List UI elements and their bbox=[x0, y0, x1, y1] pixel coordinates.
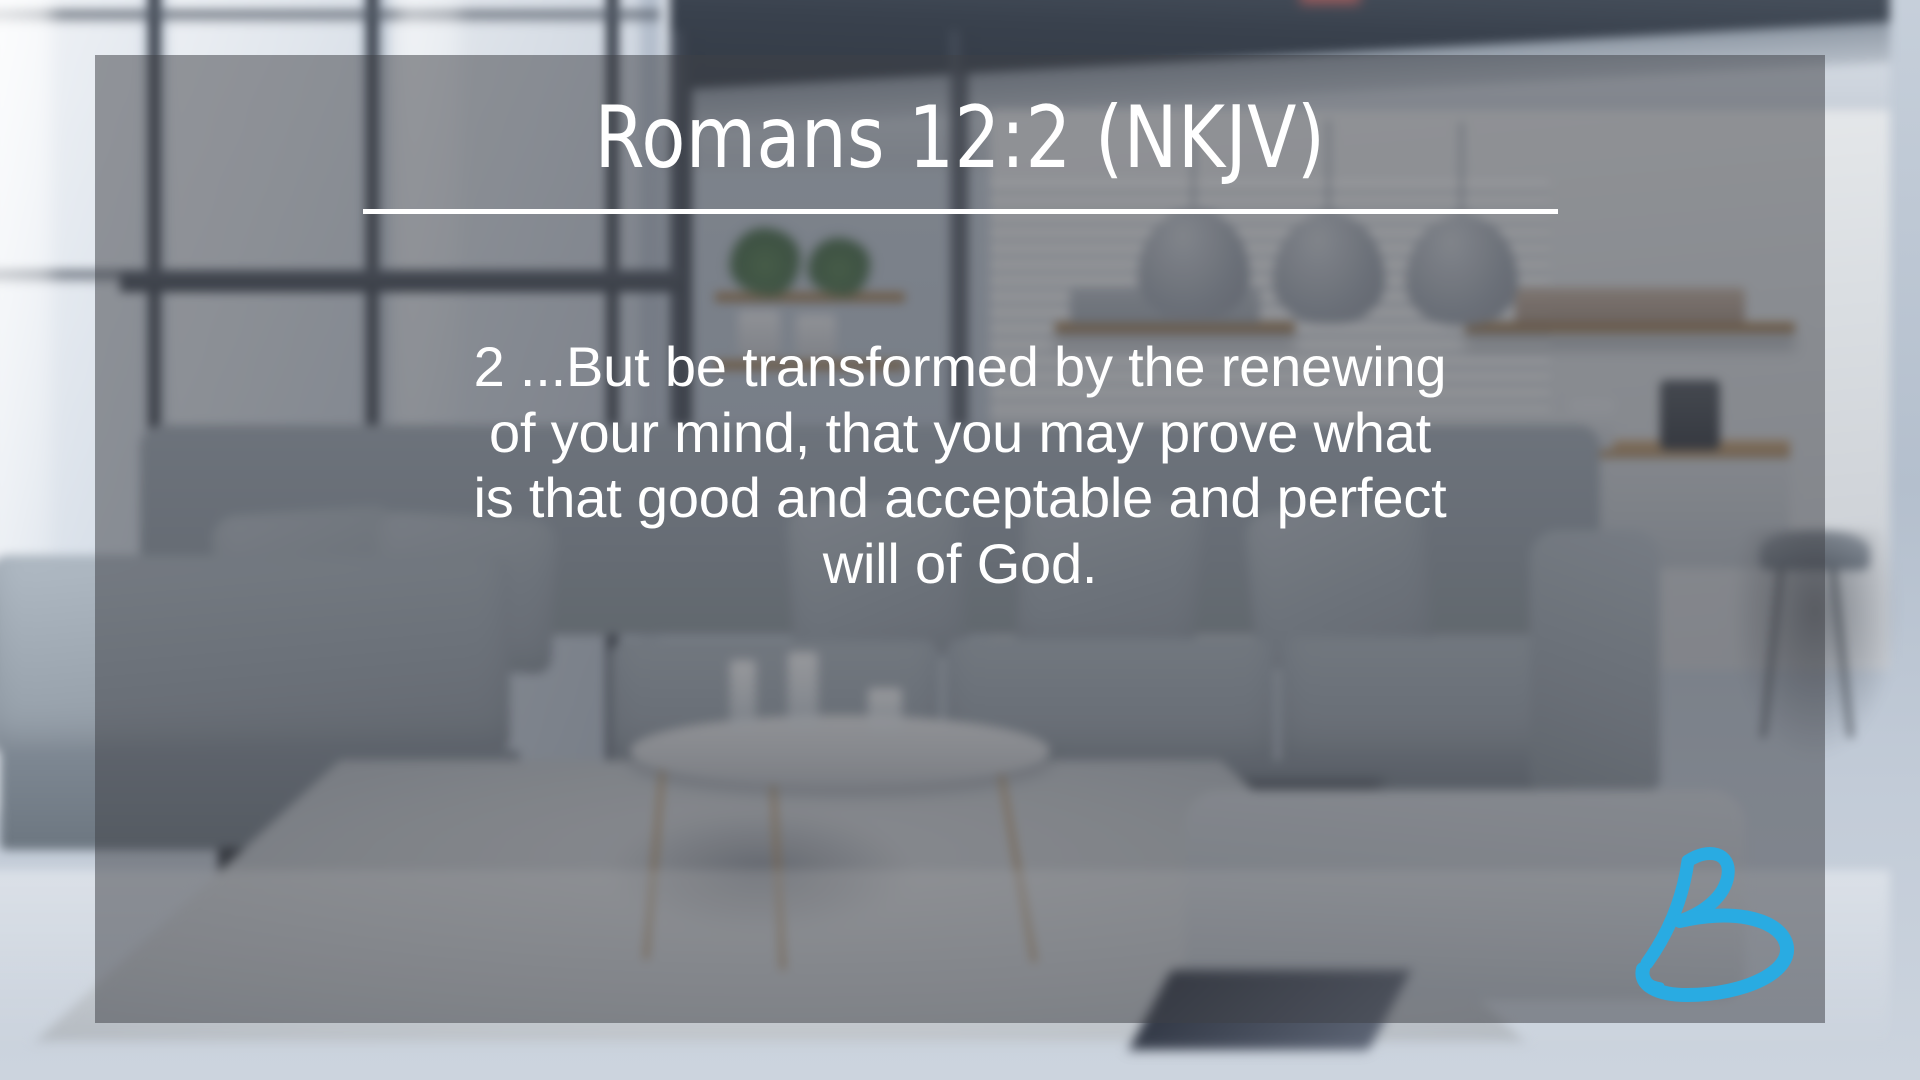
verse-reference-title: Romans 12:2 (NKJV) bbox=[595, 93, 1326, 183]
verse-body-text: 2 ...But be transformed by the renewing … bbox=[325, 334, 1595, 596]
verse-line: of your mind, that you may prove what bbox=[325, 400, 1595, 466]
window-transom bbox=[0, 10, 660, 24]
verse-line: is that good and acceptable and perfect bbox=[325, 465, 1595, 531]
slide-content: Romans 12:2 (NKJV) 2 ...But be transform… bbox=[95, 55, 1825, 1023]
slide-canvas: Romans 12:2 (NKJV) 2 ...But be transform… bbox=[0, 0, 1920, 1080]
title-divider-rule bbox=[363, 209, 1558, 214]
verse-line: 2 ...But be transformed by the renewing bbox=[325, 334, 1595, 400]
ceiling-red-accent bbox=[1300, 0, 1360, 4]
brand-logo bbox=[1625, 845, 1825, 1020]
brush-b-logo-icon bbox=[1625, 845, 1825, 1020]
verse-line: will of God. bbox=[325, 531, 1595, 597]
